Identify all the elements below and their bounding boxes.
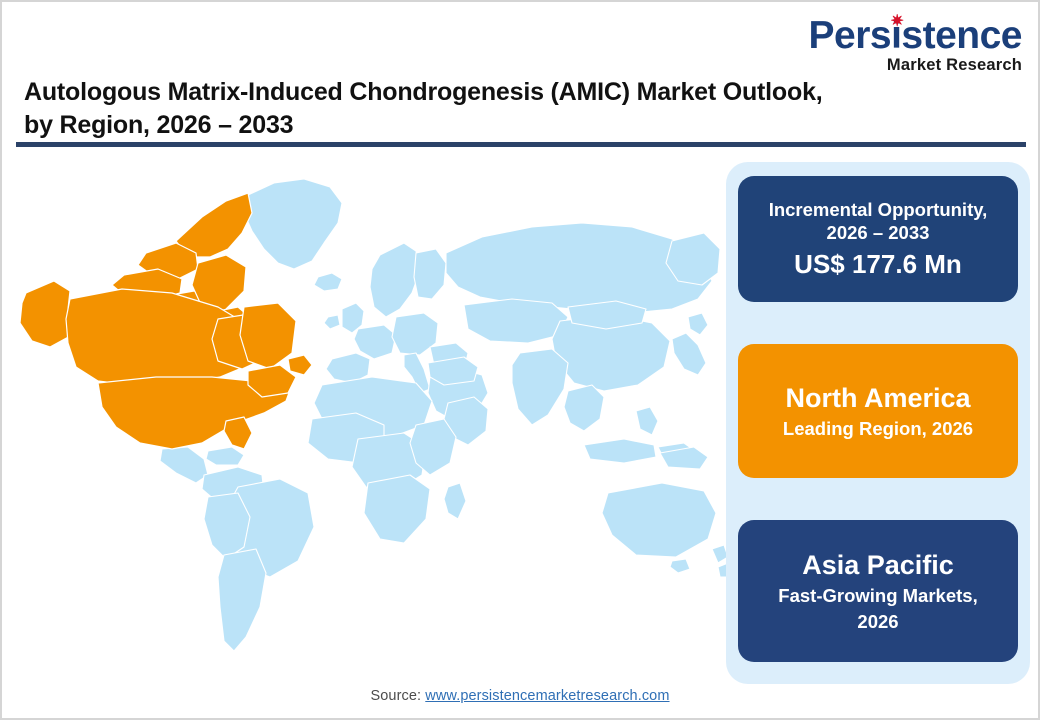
source-line: Source: www.persistencemarketresearch.co… xyxy=(2,688,1038,704)
source-url-link[interactable]: www.persistencemarketresearch.com xyxy=(425,688,669,704)
region-central-asia xyxy=(464,299,568,343)
region-philippines xyxy=(636,407,658,435)
region-southern-africa xyxy=(364,475,430,543)
world-map xyxy=(12,157,728,677)
region-india xyxy=(512,349,568,425)
brand-logo: Persistence ✷ Market Research xyxy=(809,16,1022,75)
leading-region-title: North America xyxy=(785,382,970,415)
card-incremental-opportunity[interactable]: Incremental Opportunity, 2026 – 2033 US$… xyxy=(738,176,1018,302)
page-title: Autologous Matrix-Induced Chondrogenesis… xyxy=(24,76,954,142)
page-title-line-1: Autologous Matrix-Induced Chondrogenesis… xyxy=(24,76,954,109)
region-iceland xyxy=(314,273,342,291)
source-label: Source: xyxy=(370,688,421,704)
region-ireland xyxy=(324,315,340,329)
region-caribbean xyxy=(206,447,244,465)
region-canadian-arctic xyxy=(176,193,252,257)
region-newfoundland xyxy=(288,355,312,375)
fast-growing-subtitle-line-2: 2026 xyxy=(857,610,898,633)
brand-name-wordmark: Persistence ✷ xyxy=(809,16,1022,55)
region-florida xyxy=(224,417,252,449)
incremental-opportunity-label-line-2: 2026 – 2033 xyxy=(827,221,930,244)
region-central-america xyxy=(160,447,208,483)
callout-panel: Incremental Opportunity, 2026 – 2033 US$… xyxy=(726,162,1030,684)
fast-growing-title: Asia Pacific xyxy=(802,549,954,582)
incremental-opportunity-label-line-1: Incremental Opportunity, xyxy=(769,198,988,221)
region-sea-mainland xyxy=(564,385,604,431)
region-japan-north xyxy=(688,313,708,335)
card-leading-region[interactable]: North America Leading Region, 2026 xyxy=(738,344,1018,478)
region-indonesia-1 xyxy=(584,439,656,463)
region-argentina-chile xyxy=(218,549,266,651)
world-map-svg xyxy=(12,157,728,677)
region-france-benelux xyxy=(354,325,396,359)
brand-tagline: Market Research xyxy=(809,56,1022,75)
page-title-line-2: by Region, 2026 – 2033 xyxy=(24,109,954,142)
region-greenland xyxy=(244,179,342,269)
region-finland-baltics xyxy=(414,249,446,299)
region-tasmania xyxy=(670,559,690,573)
infographic-canvas: Persistence ✷ Market Research Autologous… xyxy=(0,0,1040,720)
title-divider xyxy=(16,142,1026,147)
incremental-opportunity-value: US$ 177.6 Mn xyxy=(794,248,962,280)
region-scandinavia xyxy=(370,243,420,317)
region-australia xyxy=(602,483,716,557)
region-korea-japan xyxy=(672,333,706,375)
region-madagascar xyxy=(444,483,466,519)
leading-region-subtitle: Leading Region, 2026 xyxy=(783,417,973,440)
brand-name-text: Persistence xyxy=(809,14,1022,57)
fast-growing-subtitle-line-1: Fast-Growing Markets, xyxy=(778,584,977,607)
brand-star-icon: ✷ xyxy=(891,14,904,30)
card-fast-growing-market[interactable]: Asia Pacific Fast-Growing Markets, 2026 xyxy=(738,520,1018,662)
